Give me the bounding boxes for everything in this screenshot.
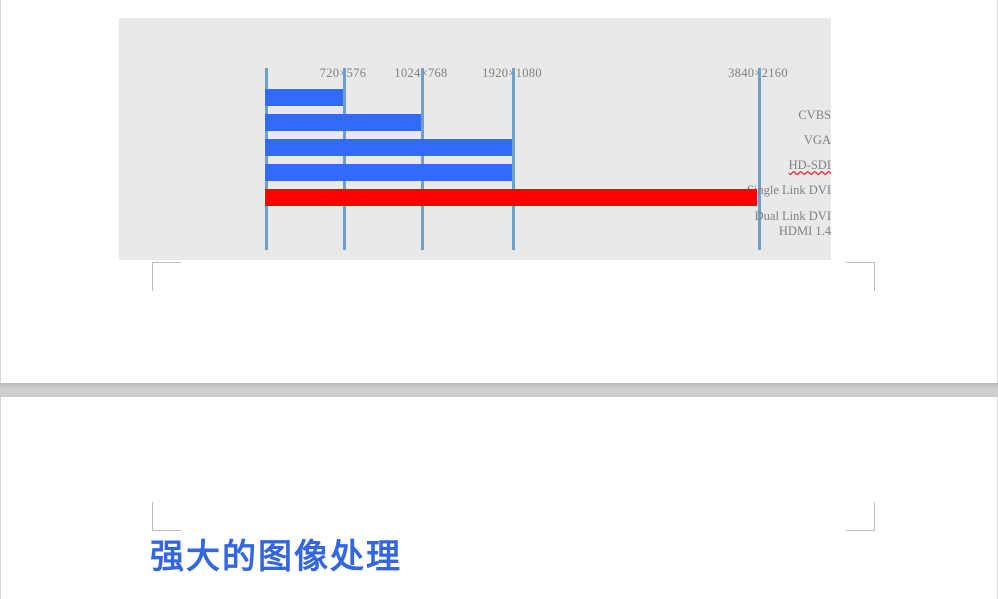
- bar-vga: [265, 114, 421, 131]
- category-label-vga: VGA: [693, 133, 831, 148]
- resolution-comparison-chart[interactable]: 720×576 1024×768 1920×1080 3840×2160 CVB…: [119, 18, 831, 260]
- document-page-1[interactable]: 720×576 1024×768 1920×1080 3840×2160 CVB…: [0, 0, 998, 383]
- bar-cvbs: [265, 89, 343, 106]
- bar-single-link-dvi: [265, 164, 512, 181]
- page-break-separator: [0, 383, 998, 397]
- bar-dual-link-dvi-hdmi: [265, 189, 757, 206]
- category-label-dual-link-dvi: Dual Link DVI: [693, 209, 831, 224]
- category-label-hd-sdi: HD-SDI: [693, 158, 831, 173]
- category-label-hdmi-14: HDMI 1.4: [693, 224, 831, 239]
- gridline-1920x1080: [512, 68, 515, 250]
- margin-crop-mark-bottom-right: [846, 262, 875, 291]
- chart-plot-area: 720×576 1024×768 1920×1080 3840×2160 CVB…: [119, 18, 831, 260]
- page-heading-powerful-image-processing[interactable]: 强大的图像处理: [150, 529, 402, 578]
- bar-hd-sdi: [265, 139, 512, 156]
- margin-crop-mark-bottom-left: [152, 262, 181, 291]
- gridline-1024x768: [421, 68, 424, 250]
- gridline-720x576: [343, 68, 346, 250]
- margin-crop-mark-top-left: [152, 502, 181, 531]
- category-label-cvbs: CVBS: [693, 108, 831, 123]
- margin-crop-mark-top-right: [846, 502, 875, 531]
